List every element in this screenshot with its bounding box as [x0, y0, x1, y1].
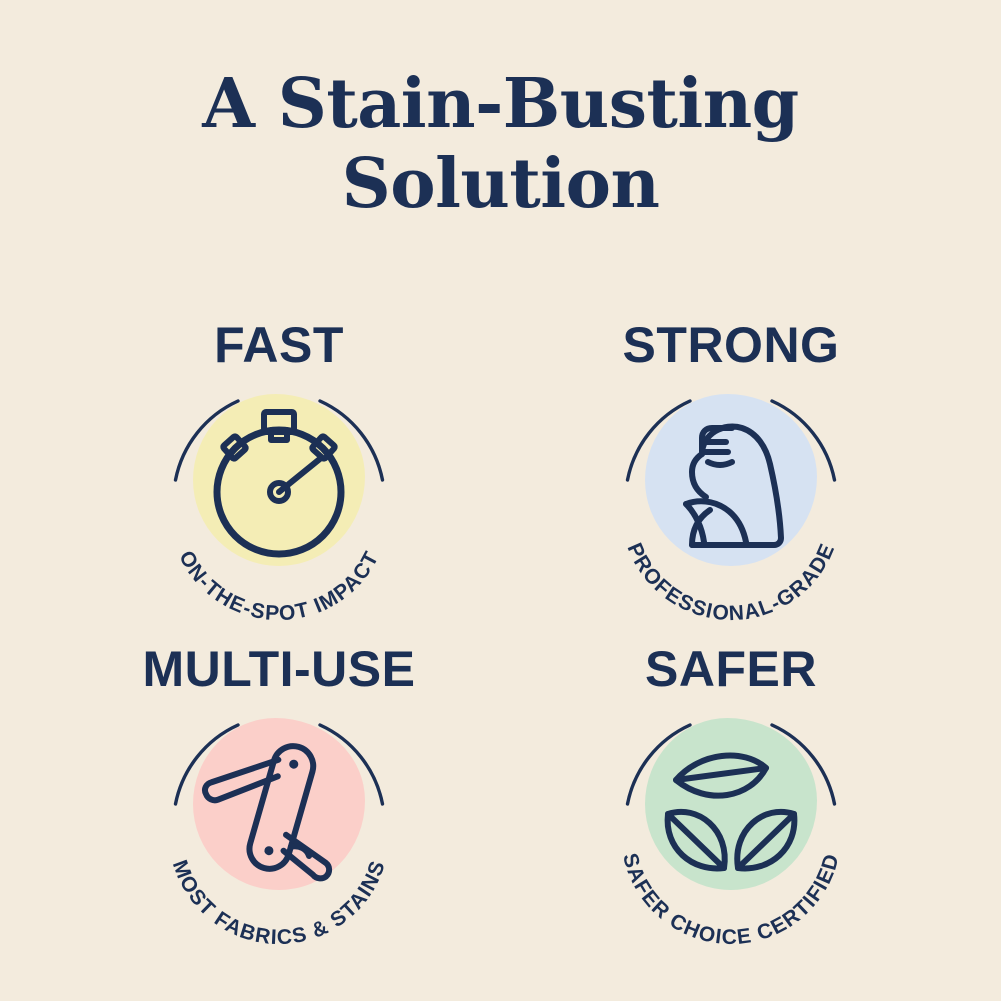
badge-arc-safer: SAFER CHOICE CERTIFIED: [597, 700, 865, 968]
badge-heading-strong: STRONG: [623, 318, 840, 374]
badge-arc-multi-use: MOST FABRICS & STAINS: [145, 700, 413, 968]
benefit-badge-safer: SAFER: [512, 642, 950, 958]
infographic-page: A Stain-Busting Solution FAST: [0, 0, 1001, 1001]
badge-ring-fast: ON-THE-SPOT IMPACT: [145, 376, 413, 624]
badge-arc-label-fast: ON-THE-SPOT IMPACT: [174, 547, 383, 625]
badge-arc-fast: ON-THE-SPOT IMPACT: [145, 376, 413, 644]
badge-arc-label-safer: SAFER CHOICE CERTIFIED: [618, 851, 844, 949]
badge-heading-safer: SAFER: [645, 642, 817, 698]
page-title-line-1: A Stain-Busting: [0, 64, 1001, 144]
badge-arc-label-multi-use: MOST FABRICS & STAINS: [168, 857, 390, 949]
badge-ring-multi-use: MOST FABRICS & STAINS: [145, 700, 413, 948]
benefit-badge-fast: FAST: [60, 318, 498, 634]
badge-arc-strong: PROFESSIONAL-GRADE: [597, 376, 865, 644]
benefit-badge-strong: STRONG: [512, 318, 950, 634]
page-title: A Stain-Busting Solution: [0, 64, 1001, 224]
badge-heading-fast: FAST: [214, 318, 344, 374]
badge-ring-strong: PROFESSIONAL-GRADE: [597, 376, 865, 624]
badge-heading-multi-use: MULTI-USE: [143, 642, 416, 698]
benefit-badge-multi-use: MULTI-USE: [60, 642, 498, 958]
benefit-badge-grid: FAST: [60, 318, 950, 958]
badge-arc-label-strong: PROFESSIONAL-GRADE: [622, 540, 839, 626]
badge-ring-safer: SAFER CHOICE CERTIFIED: [597, 700, 865, 948]
page-title-line-2: Solution: [0, 144, 1001, 224]
